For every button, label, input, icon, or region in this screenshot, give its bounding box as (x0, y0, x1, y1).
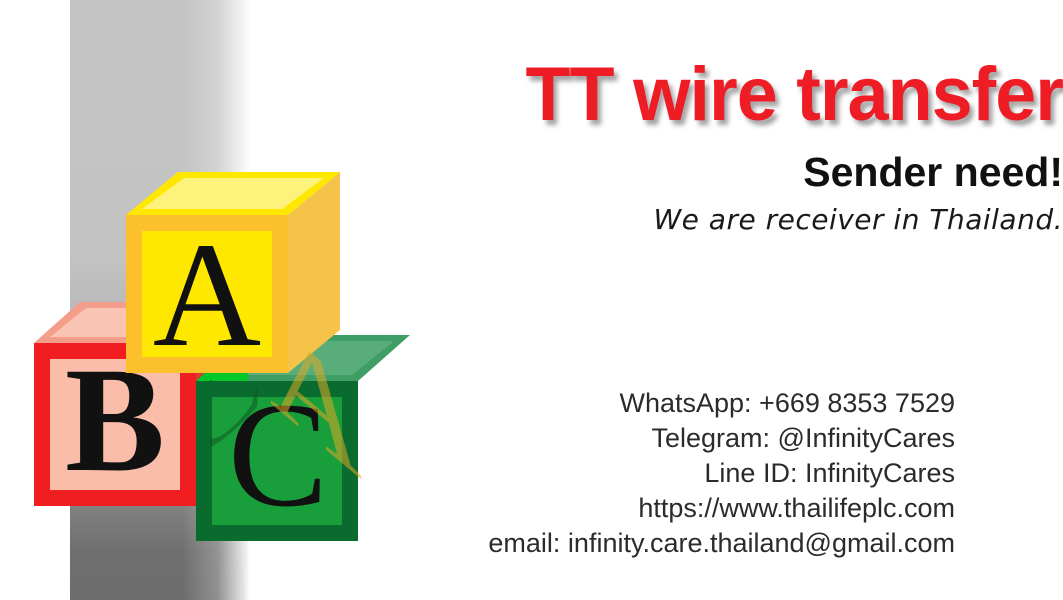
svg-text:A: A (153, 212, 261, 378)
contact-line-whatsapp: WhatsApp: +669 8353 7529 (255, 386, 955, 421)
contact-line-email[interactable]: email: infinity.care.thailand@gmail.com (255, 526, 955, 561)
page-title: TT wire transfer (384, 57, 1063, 133)
business-card-canvas: B B C C (0, 0, 1063, 600)
subtitle: Sender need! (363, 150, 1063, 195)
contact-line-lineid: Line ID: InfinityCares (255, 456, 955, 491)
contact-line-telegram: Telegram: @InfinityCares (255, 421, 955, 456)
tagline: We are receiver in Thailand. (363, 203, 1063, 237)
contact-line-website[interactable]: https://www.thailifeplc.com (255, 491, 955, 526)
contact-details-block: WhatsApp: +669 8353 7529 Telegram: @Infi… (255, 386, 955, 561)
